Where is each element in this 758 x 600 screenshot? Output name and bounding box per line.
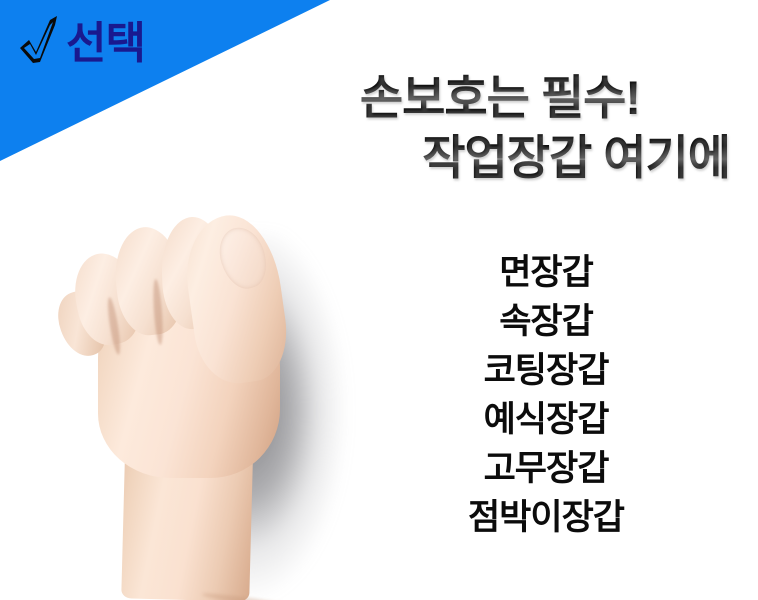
brand-logo[interactable]: 선택 [16, 18, 145, 70]
product-list: 면장갑 속장갑 코팅장갑 예식장갑 고무장갑 점박이장갑 [430, 248, 662, 542]
fist-hand-image [58, 205, 388, 600]
product-item-1[interactable]: 속장갑 [430, 297, 662, 346]
promo-banner: 선택 손보호는 필수! 작업장갑 여기에 면장갑 속장갑 코팅장갑 예식장갑 고… [0, 0, 758, 600]
headline-block: 손보호는 필수! 작업장갑 여기에 [0, 68, 742, 188]
headline-line-2: 작업장갑 여기에 [0, 128, 742, 188]
product-item-2[interactable]: 코팅장갑 [430, 346, 662, 395]
product-item-3[interactable]: 예식장갑 [430, 395, 662, 444]
check-mark-icon [16, 14, 68, 70]
product-item-4[interactable]: 고무장갑 [430, 444, 662, 493]
product-item-0[interactable]: 면장갑 [430, 248, 662, 297]
brand-name: 선택 [66, 22, 145, 66]
headline-line-1: 손보호는 필수! [0, 68, 742, 128]
product-item-5[interactable]: 점박이장갑 [430, 493, 662, 542]
